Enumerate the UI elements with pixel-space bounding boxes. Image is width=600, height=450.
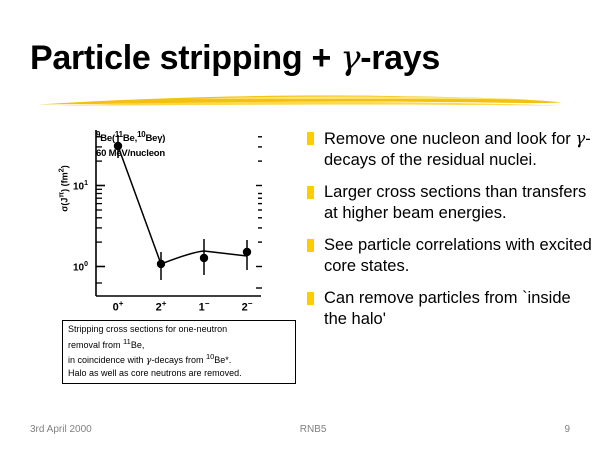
caption-line-2: removal from 11Be,: [68, 336, 290, 352]
footer-page-number: 9: [564, 424, 570, 435]
chart-svg: [88, 128, 263, 306]
title-swoosh-decoration: [36, 91, 564, 108]
data-point-0plus: [114, 142, 122, 150]
x-tick-label-0plus: 0+: [103, 299, 133, 314]
data-point-2minus: [243, 248, 251, 256]
bullet-text-remove-particles: Can remove particles from `inside the ha…: [324, 288, 595, 330]
y-axis-exp-sup: 2: [57, 168, 66, 172]
data-point-2plus: [157, 260, 165, 268]
bullet-list: Remove one nucleon and look for γ-decays…: [307, 128, 595, 341]
page-title-suffix: -rays: [360, 39, 440, 77]
caption-line-4: Halo as well as core neutrons are remove…: [68, 368, 290, 380]
page-title-prefix: Particle stripping +: [30, 39, 340, 77]
bullet-square-icon: [307, 239, 314, 252]
y-tick-label-10e0: 100: [62, 261, 88, 273]
chart-data-points: [114, 142, 251, 268]
y-ticks-right: [256, 137, 262, 288]
caption-line-1: Stripping cross sections for one-neutron: [68, 324, 290, 336]
y-axis-sigma: σ(J: [60, 198, 70, 212]
caption-line-3: in coincidence with γ-decays from 10Be*.: [68, 351, 290, 368]
cross-section-chart: σ(Jπ) (fm2) 9Be(11Be,10Beγ) 60 MeV/nucle…: [50, 126, 295, 316]
footer-conference: RNB5: [92, 424, 565, 435]
y-tick-label-10e1: 101: [62, 180, 88, 192]
page-title: Particle stripping + γ-rays: [30, 38, 570, 78]
bullet-text-remove-nucleon: Remove one nucleon and look for γ-decays…: [324, 128, 595, 171]
x-tick-label-1minus: 1−: [189, 299, 219, 314]
bullet-square-icon: [307, 186, 314, 199]
gamma-symbol: γ: [340, 38, 360, 78]
bullet-item-larger-cross-sections: Larger cross sections than transfers at …: [307, 182, 595, 224]
y-axis-pi-sup: π: [57, 192, 66, 198]
bullet-text-particle-correlations: See particle correlations with excited c…: [324, 235, 595, 277]
y-minor-ticks-left: [96, 137, 102, 283]
x-tick-label-2plus: 2+: [146, 299, 176, 314]
chart-error-bars: [118, 135, 247, 280]
chart-plot-area: 100 101 0+ 2+ 1− 2−: [88, 128, 263, 306]
bullet-item-particle-correlations: See particle correlations with excited c…: [307, 235, 595, 277]
x-tick-label-2minus: 2−: [232, 299, 262, 314]
bullet-item-remove-nucleon: Remove one nucleon and look for γ-decays…: [307, 128, 595, 171]
data-point-1minus: [200, 254, 208, 262]
y-axis-close-paren: ): [60, 165, 70, 168]
bullet-text-larger-cross-sections: Larger cross sections than transfers at …: [324, 182, 595, 224]
slide-footer: 3rd April 2000 RNB5 9: [30, 424, 570, 435]
caption-mass-11: 11: [123, 337, 131, 346]
bullet-item-remove-particles: Can remove particles from `inside the ha…: [307, 288, 595, 330]
gamma-symbol: γ: [575, 129, 585, 148]
bullet-square-icon: [307, 292, 314, 305]
chart-line-series: [118, 146, 247, 264]
chart-caption-box: Stripping cross sections for one-neutron…: [62, 320, 296, 384]
bullet-square-icon: [307, 132, 314, 145]
footer-date: 3rd April 2000: [30, 424, 92, 435]
